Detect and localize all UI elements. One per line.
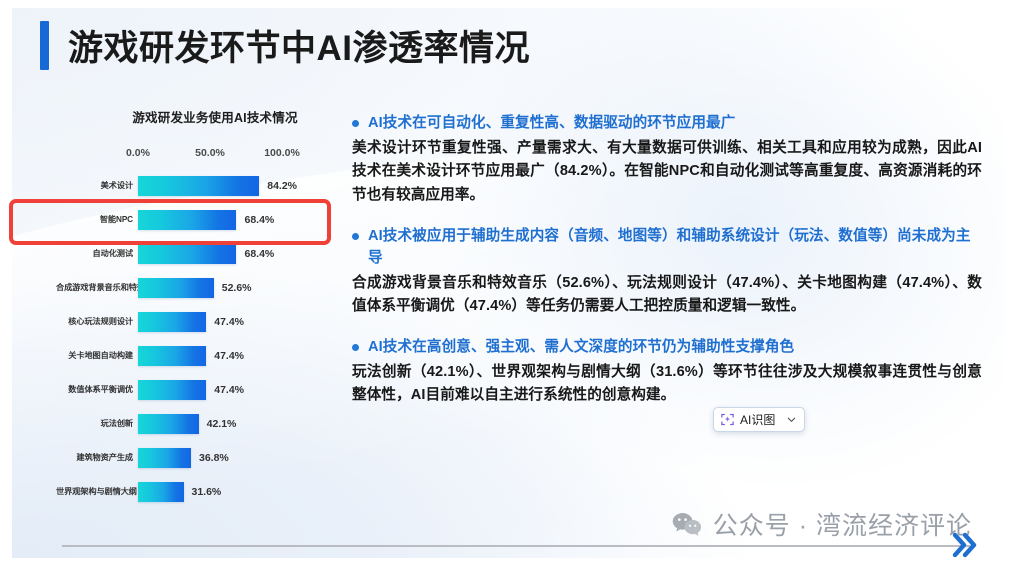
bullet-dot-icon [352, 120, 359, 127]
bar-fill [138, 278, 214, 298]
chart-panel: 游戏研发业务使用AI技术情况 0.0%50.0%100.0% 美术设计84.2%… [56, 107, 356, 512]
bar-fill [138, 414, 199, 434]
bar-value-label: 84.2% [267, 180, 297, 192]
title-accent-bar [40, 21, 49, 70]
scan-sparkle-icon [720, 412, 735, 427]
bar-track: 47.4% [138, 339, 356, 373]
bar-category-label: 合成游戏背景音乐和特效音乐 [56, 283, 138, 292]
bar-category-label: 核心玩法规则设计 [56, 317, 138, 326]
frame-edge-left [0, 0, 12, 564]
bullet-dot-icon [352, 344, 359, 351]
wechat-icon [672, 511, 702, 537]
analysis-block-heading-text: AI技术在可自动化、重复性高、数据驱动的环节应用最广 [368, 112, 982, 135]
bar-category-label: 玩法创新 [56, 419, 138, 428]
frame-edge-bottom [0, 558, 1014, 564]
bar-value-label: 47.4% [214, 350, 244, 362]
bar-category-label: 世界观架构与剧情大纲 [56, 487, 138, 496]
page-title: 游戏研发环节中AI渗透率情况 [68, 20, 530, 71]
footer-brand: 公众号 · 湾流经济评论 [672, 506, 972, 542]
bar-track: 52.6% [138, 271, 356, 305]
ai-recognize-image-widget[interactable]: AI识图 [713, 407, 805, 432]
analysis-block: AI技术在可自动化、重复性高、数据驱动的环节应用最广美术设计环节重复性强、产量需… [352, 112, 982, 208]
footer-divider [62, 545, 970, 547]
bar-track: 31.6% [138, 475, 356, 509]
bar-value-label: 52.6% [222, 282, 252, 294]
bar-fill [138, 346, 206, 366]
analysis-block-heading-text: AI技术在高创意、强主观、需人文深度的环节仍为辅助性支撑角色 [368, 336, 982, 359]
chart-bar-row: 玩法创新42.1% [56, 407, 356, 441]
bar-category-label: 智能NPC [56, 215, 138, 224]
bar-fill [138, 482, 184, 502]
chart-bar-row: 关卡地图自动构建47.4% [56, 339, 356, 373]
bar-track: 68.4% [138, 237, 356, 271]
x-axis-tick: 0.0% [126, 147, 150, 159]
analysis-block: AI技术被应用于辅助生成内容（音频、地图等）和辅助系统设计（玩法、数值等）尚未成… [352, 225, 982, 320]
bar-fill [138, 312, 206, 332]
analysis-block-body: 美术设计环节重复性强、产量需求大、有大量数据可供训练、相关工具和应用较为成熟，因… [352, 137, 982, 208]
chart-bar-row: 合成游戏背景音乐和特效音乐52.6% [56, 271, 356, 305]
analysis-block-body: 玩法创新（42.1%）、世界观架构与剧情大纲（31.6%）等环节往往涉及大规模叙… [352, 361, 982, 408]
bar-category-label: 建筑物资产生成 [56, 453, 138, 462]
bar-value-label: 42.1% [207, 418, 237, 430]
slide-canvas: 游戏研发环节中AI渗透率情况 游戏研发业务使用AI技术情况 0.0%50.0%1… [0, 0, 1014, 564]
x-axis-tick: 50.0% [195, 147, 225, 159]
bar-fill [138, 448, 191, 468]
bar-category-label: 关卡地图自动构建 [56, 351, 138, 360]
x-axis-tick: 100.0% [264, 147, 300, 159]
analysis-block-heading: AI技术在高创意、强主观、需人文深度的环节仍为辅助性支撑角色 [352, 336, 982, 359]
ai-widget-label: AI识图 [740, 411, 775, 428]
analysis-block-heading: AI技术被应用于辅助生成内容（音频、地图等）和辅助系统设计（玩法、数值等）尚未成… [352, 225, 982, 270]
analysis-block: AI技术在高创意、强主观、需人文深度的环节仍为辅助性支撑角色玩法创新（42.1%… [352, 336, 982, 408]
double-chevron-right-icon [952, 531, 978, 559]
bar-fill [138, 210, 236, 230]
chart-x-axis: 0.0%50.0%100.0% [56, 147, 356, 163]
bar-value-label: 68.4% [244, 214, 274, 226]
bar-track: 68.4% [138, 203, 356, 237]
bar-track: 84.2% [138, 169, 356, 203]
chevron-down-icon[interactable] [786, 414, 797, 425]
bar-value-label: 36.8% [199, 452, 229, 464]
chart-bar-row: 核心玩法规则设计47.4% [56, 305, 356, 339]
bar-value-label: 68.4% [244, 248, 274, 260]
chart-bar-row: 世界观架构与剧情大纲31.6% [56, 475, 356, 509]
chart-bar-row: 自动化测试68.4% [56, 237, 356, 271]
bar-fill [138, 176, 259, 196]
analysis-block-heading-text: AI技术被应用于辅助生成内容（音频、地图等）和辅助系统设计（玩法、数值等）尚未成… [368, 225, 982, 270]
analysis-block-heading: AI技术在可自动化、重复性高、数据驱动的环节应用最广 [352, 112, 982, 135]
frame-edge-top [0, 0, 1014, 8]
bar-track: 36.8% [138, 441, 356, 475]
bar-category-label: 自动化测试 [56, 249, 138, 258]
bar-track: 47.4% [138, 305, 356, 339]
bar-fill [138, 380, 206, 400]
chart-bar-row: 美术设计84.2% [56, 169, 356, 203]
bar-track: 42.1% [138, 407, 356, 441]
analysis-block-body: 合成游戏背景音乐和特效音乐（52.6%）、玩法规则设计（47.4%）、关卡地图构… [352, 272, 982, 319]
frame-edge-right [1004, 0, 1014, 564]
chart-bar-row: 建筑物资产生成36.8% [56, 441, 356, 475]
bar-value-label: 31.6% [192, 486, 222, 498]
analysis-text-column: AI技术在可自动化、重复性高、数据驱动的环节应用最广美术设计环节重复性强、产量需… [352, 112, 982, 425]
footer-text: 公众号 · 湾流经济评论 [713, 506, 972, 542]
bar-fill [138, 244, 236, 264]
chart-bars: 美术设计84.2%智能NPC68.4%自动化测试68.4%合成游戏背景音乐和特效… [56, 169, 356, 509]
chart-bar-row: 数值体系平衡调优47.4% [56, 373, 356, 407]
bar-track: 47.4% [138, 373, 356, 407]
bullet-dot-icon [352, 233, 359, 240]
bar-category-label: 数值体系平衡调优 [56, 385, 138, 394]
bar-value-label: 47.4% [214, 384, 244, 396]
page-header: 游戏研发环节中AI渗透率情况 [40, 20, 530, 71]
chart-bar-row: 智能NPC68.4% [56, 203, 356, 237]
bar-category-label: 美术设计 [56, 181, 138, 190]
bar-value-label: 47.4% [214, 316, 244, 328]
chart-title: 游戏研发业务使用AI技术情况 [74, 107, 356, 126]
